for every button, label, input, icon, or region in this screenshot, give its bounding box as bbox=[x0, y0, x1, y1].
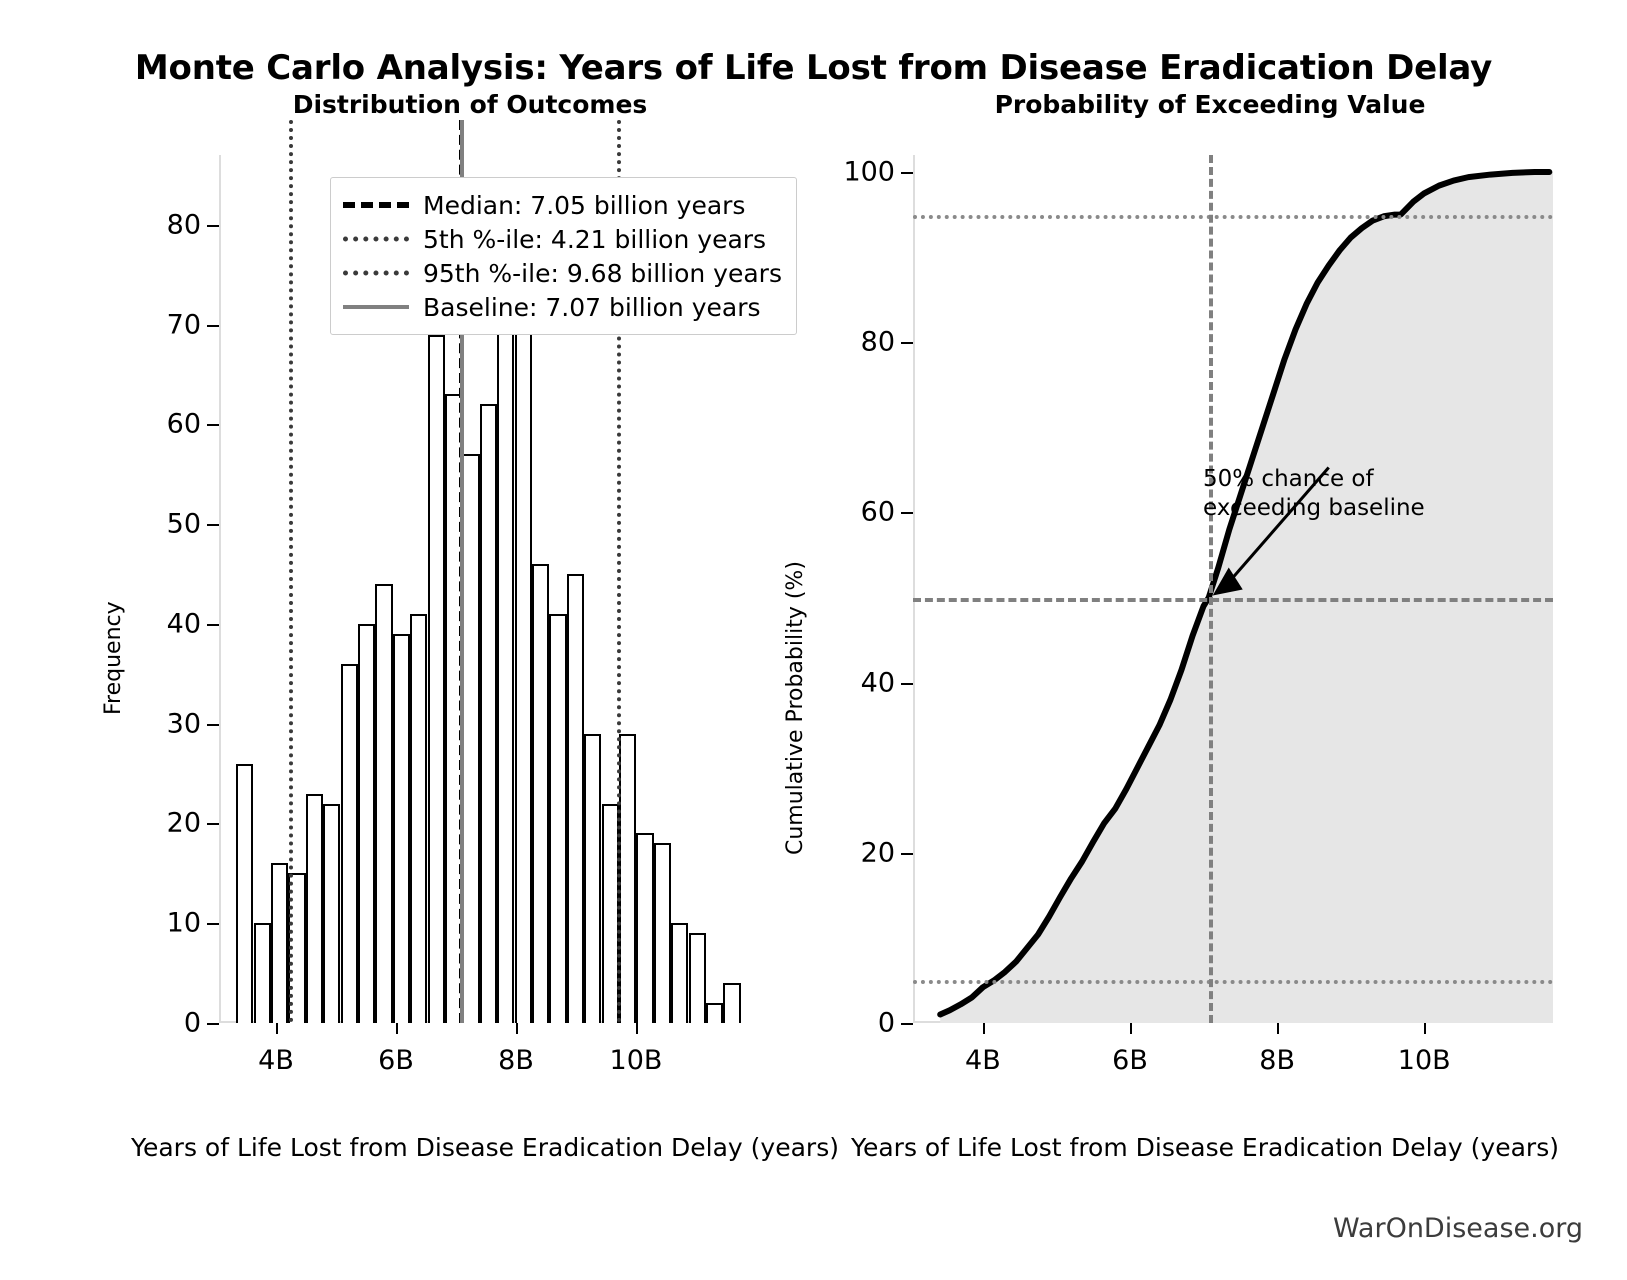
cdf-y-tick bbox=[901, 1023, 913, 1025]
cdf-x-tick bbox=[1424, 1023, 1426, 1034]
histogram-bar bbox=[428, 335, 445, 1023]
hist-y-tick bbox=[207, 524, 219, 526]
hist-x-tick bbox=[396, 1023, 398, 1034]
cdf-y-tick bbox=[901, 853, 913, 855]
legend-row[interactable]: 5th %-ile: 4.21 billion years bbox=[343, 222, 782, 256]
cdf-annotation-arrow bbox=[913, 155, 1553, 1023]
histogram-bar bbox=[671, 923, 688, 1023]
hist-y-tick bbox=[207, 923, 219, 925]
histogram-bar bbox=[567, 574, 584, 1023]
hist-x-tick-label: 4B bbox=[258, 1045, 294, 1076]
histogram-bar bbox=[654, 843, 671, 1023]
legend-label: 95th %-ile: 9.68 billion years bbox=[423, 259, 782, 288]
histogram-bar bbox=[341, 664, 358, 1023]
histogram-bar bbox=[584, 734, 601, 1023]
figure-suptitle: Monte Carlo Analysis: Years of Life Lost… bbox=[0, 48, 1627, 88]
cdf-y-tick-label: 20 bbox=[861, 837, 895, 868]
footer-credit: WarOnDisease.org bbox=[1333, 1213, 1583, 1244]
histogram-bar bbox=[462, 454, 479, 1023]
hist-y-tick bbox=[207, 424, 219, 426]
left-chart-title: Distribution of Outcomes bbox=[160, 90, 780, 119]
histogram-bar bbox=[619, 734, 636, 1023]
hist-y-tick bbox=[207, 724, 219, 726]
cdf-y-tick-label: 40 bbox=[861, 667, 895, 698]
hist-y-tick-label: 10 bbox=[167, 908, 201, 939]
histogram-bar bbox=[706, 1003, 723, 1023]
legend-line-dotted-icon bbox=[343, 263, 409, 283]
legend-line-dotted-icon bbox=[343, 229, 409, 249]
cdf-x-tick bbox=[1277, 1023, 1279, 1034]
hist-y-tick-label: 70 bbox=[167, 309, 201, 340]
histogram-bar bbox=[375, 584, 392, 1023]
histogram-bar bbox=[393, 634, 410, 1023]
cdf-y-tick-label: 0 bbox=[878, 1008, 895, 1039]
hist-x-axis-label: Years of Life Lost from Disease Eradicat… bbox=[85, 1133, 885, 1162]
hist-x-tick-label: 8B bbox=[498, 1045, 534, 1076]
histogram-bar bbox=[636, 833, 653, 1023]
cdf-annotation-text: 50% chance of exceeding baseline bbox=[1203, 465, 1425, 523]
legend-row[interactable]: Baseline: 7.07 billion years bbox=[343, 290, 782, 324]
hist-refline-p5 bbox=[289, 120, 293, 1023]
histogram-bar bbox=[532, 564, 549, 1023]
legend-row[interactable]: 95th %-ile: 9.68 billion years bbox=[343, 256, 782, 290]
hist-y-tick-label: 40 bbox=[167, 608, 201, 639]
hist-y-tick-label: 0 bbox=[184, 1008, 201, 1039]
cdf-y-tick-label: 60 bbox=[861, 497, 895, 528]
legend-glyph-line bbox=[343, 237, 409, 242]
cdf-axes: 020406080100 4B6B8B10B 50% chance of exc… bbox=[913, 155, 1553, 1023]
cdf-y-tick bbox=[901, 172, 913, 174]
legend-line-dashed-icon bbox=[343, 195, 409, 215]
histogram-bar bbox=[410, 614, 427, 1023]
histogram-bar bbox=[358, 624, 375, 1023]
hist-y-tick-label: 50 bbox=[167, 509, 201, 540]
cdf-x-tick-label: 4B bbox=[965, 1045, 1001, 1076]
figure-root: Monte Carlo Analysis: Years of Life Lost… bbox=[0, 0, 1627, 1280]
histogram-legend[interactable]: Median: 7.05 billion years5th %-ile: 4.2… bbox=[330, 177, 797, 335]
hist-x-tick bbox=[276, 1023, 278, 1034]
histogram-bar bbox=[236, 764, 253, 1023]
right-chart-title: Probability of Exceeding Value bbox=[860, 90, 1560, 119]
hist-x-tick bbox=[516, 1023, 518, 1034]
hist-y-tick bbox=[207, 325, 219, 327]
histogram-bar bbox=[723, 983, 740, 1023]
histogram-bar bbox=[271, 863, 288, 1023]
cdf-x-tick bbox=[1130, 1023, 1132, 1034]
histogram-bar bbox=[549, 614, 566, 1023]
legend-label: Median: 7.05 billion years bbox=[423, 191, 745, 220]
cdf-x-axis-label: Years of Life Lost from Disease Eradicat… bbox=[780, 1133, 1627, 1162]
hist-y-axis-label: Frequency bbox=[101, 601, 126, 715]
legend-glyph-line bbox=[343, 305, 409, 309]
cdf-x-tick-label: 6B bbox=[1112, 1045, 1148, 1076]
legend-glyph-line bbox=[343, 202, 409, 208]
histogram-bar bbox=[480, 404, 497, 1023]
hist-y-tick-label: 80 bbox=[167, 209, 201, 240]
hist-y-tick-label: 60 bbox=[167, 409, 201, 440]
hist-y-tick bbox=[207, 1023, 219, 1025]
histogram-bar bbox=[689, 933, 706, 1023]
cdf-y-tick bbox=[901, 342, 913, 344]
cdf-x-tick-label: 10B bbox=[1398, 1045, 1451, 1076]
legend-label: Baseline: 7.07 billion years bbox=[423, 293, 761, 322]
cdf-y-tick bbox=[901, 512, 913, 514]
cdf-y-tick-label: 80 bbox=[861, 327, 895, 358]
cdf-x-tick bbox=[983, 1023, 985, 1034]
legend-glyph-line bbox=[343, 271, 409, 276]
histogram-bar bbox=[254, 923, 271, 1023]
legend-row[interactable]: Median: 7.05 billion years bbox=[343, 188, 782, 222]
histogram-bar bbox=[323, 804, 340, 1023]
hist-x-tick bbox=[636, 1023, 638, 1034]
hist-x-tick-label: 6B bbox=[378, 1045, 414, 1076]
hist-y-tick bbox=[207, 624, 219, 626]
hist-y-tick-label: 20 bbox=[167, 808, 201, 839]
legend-line-solid-icon bbox=[343, 297, 409, 317]
hist-y-tick bbox=[207, 823, 219, 825]
legend-label: 5th %-ile: 4.21 billion years bbox=[423, 225, 766, 254]
hist-y-tick bbox=[207, 225, 219, 227]
hist-x-tick-label: 10B bbox=[610, 1045, 663, 1076]
cdf-y-axis-label: Cumulative Probability (%) bbox=[783, 561, 808, 855]
cdf-y-tick bbox=[901, 683, 913, 685]
histogram-bar bbox=[306, 794, 323, 1023]
cdf-x-tick-label: 8B bbox=[1259, 1045, 1295, 1076]
cdf-y-tick-label: 100 bbox=[843, 157, 895, 188]
hist-y-tick-label: 30 bbox=[167, 708, 201, 739]
